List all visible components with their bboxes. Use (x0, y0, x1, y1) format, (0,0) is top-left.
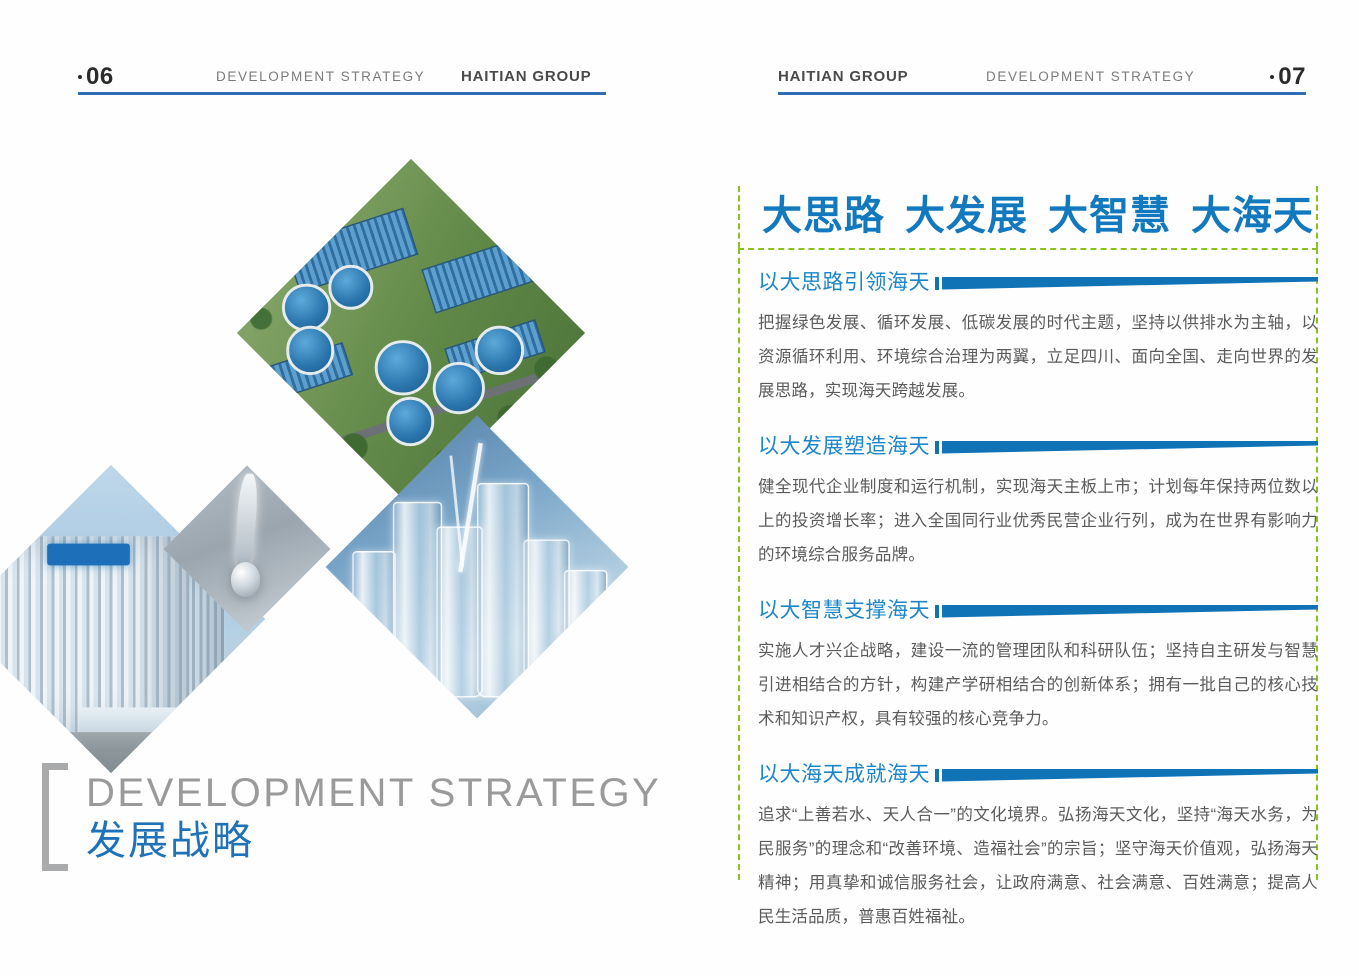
left-header-subtitle: DEVELOPMENT STRATEGY (216, 68, 425, 86)
strategy-block: 以大思路引领海天 把握绿色发展、循环发展、低碳发展的时代主题，坚持以供排水为主轴… (758, 270, 1318, 408)
graduated-cylinder (524, 539, 570, 697)
treatment-plant-art (237, 159, 585, 507)
right-folio-number: 07 (1278, 63, 1306, 90)
strategy-block-body: 追求“上善若水、天人合一”的文化境界。弘扬海天文化，坚持“海天水务，为民服务”的… (758, 798, 1318, 934)
page-title-chinese: 发展战略 (86, 816, 661, 866)
right-header-row: HAITIAN GROUP DEVELOPMENT STRATEGY 07 (778, 64, 1306, 90)
headline-part-1: 大思路 (762, 194, 885, 238)
heading-arrow-bar-icon (942, 605, 1318, 618)
left-header-brand: HAITIAN GROUP (461, 67, 591, 87)
heading-arrow-bar-icon (942, 277, 1318, 290)
right-header-brand: HAITIAN GROUP (778, 67, 908, 87)
bracket-ornament-icon (42, 763, 68, 871)
folio-dot-icon (1270, 75, 1274, 79)
left-header-rule (78, 92, 606, 95)
headline-part-4: 大海天 (1191, 194, 1314, 238)
left-page-folio: 06 (78, 64, 114, 90)
strategy-block-heading: 以大海天成就海天 (758, 762, 930, 788)
page-title-texts: DEVELOPMENT STRATEGY 发展战略 (86, 763, 661, 873)
page-title: DEVELOPMENT STRATEGY 发展战略 (42, 763, 661, 873)
diamond-image-collage (0, 150, 600, 650)
strategy-block-heading: 以大发展塑造海天 (758, 434, 930, 460)
building-podium (79, 708, 199, 736)
strategy-block-body: 把握绿色发展、循环发展、低碳发展的时代主题，坚持以供排水为主轴，以资源循环利用、… (758, 306, 1318, 408)
dashed-frame-spur-right (1316, 186, 1318, 248)
headline: 大思路大发展大智慧大海天 (762, 192, 1314, 240)
graduated-cylinder (393, 502, 442, 697)
right-header-rule (778, 92, 1306, 95)
strategy-block-list: 以大思路引领海天 把握绿色发展、循环发展、低碳发展的时代主题，坚持以供排水为主轴… (758, 270, 1318, 934)
graduated-cylinder (353, 552, 396, 698)
left-page-header: 06 DEVELOPMENT STRATEGY HAITIAN GROUP (78, 64, 606, 98)
graduated-cylinder (564, 570, 607, 697)
strategy-block: 以大海天成就海天 追求“上善若水、天人合一”的文化境界。弘扬海天文化，坚持“海天… (758, 762, 1318, 934)
strategy-block-heading: 以大智慧支撑海天 (758, 598, 930, 624)
strategy-block-body: 实施人才兴企战略，建设一流的管理团队和科研队伍；坚持自主研发与智慧引进相结合的方… (758, 634, 1318, 736)
heading-tick-mark-icon (935, 441, 939, 454)
strategy-block-header: 以大智慧支撑海天 (758, 598, 1318, 624)
headline-part-2: 大发展 (905, 194, 1028, 238)
building-logo-sign (48, 543, 130, 565)
right-page-content: 大思路大发展大智慧大海天 以大思路引领海天 把握绿色发展、循环发展、低碳发展的时… (700, 120, 1350, 920)
heading-tick-mark-icon (935, 769, 939, 782)
right-page-header: HAITIAN GROUP DEVELOPMENT STRATEGY 07 (778, 64, 1306, 98)
strategy-block-header: 以大海天成就海天 (758, 762, 1318, 788)
water-treatment-plant-aerial-photo (237, 159, 585, 507)
right-header-subtitle: DEVELOPMENT STRATEGY (986, 68, 1195, 86)
strategy-block: 以大发展塑造海天 健全现代企业制度和运行机制，实现海天主板上市；计划每年保持两位… (758, 434, 1318, 572)
heading-arrow-bar-icon (942, 441, 1318, 454)
brochure-spread: 06 DEVELOPMENT STRATEGY HAITIAN GROUP HA… (0, 0, 1359, 976)
heading-arrow-bar-icon (942, 769, 1318, 782)
plant-tree-canopy (237, 159, 585, 507)
strategy-block-header: 以大发展塑造海天 (758, 434, 1318, 460)
headline-part-3: 大智慧 (1048, 194, 1171, 238)
strategy-block: 以大智慧支撑海天 实施人才兴企战略，建设一流的管理团队和科研队伍；坚持自主研发与… (758, 598, 1318, 736)
water-stream (233, 474, 259, 573)
dashed-frame-spur-left (738, 186, 740, 248)
heading-tick-mark-icon (935, 277, 939, 290)
building-main (0, 537, 190, 733)
water-bead (232, 563, 261, 597)
left-header-row: 06 DEVELOPMENT STRATEGY HAITIAN GROUP (78, 64, 606, 90)
folio-dot-icon (78, 75, 82, 79)
left-folio-number: 06 (86, 63, 114, 90)
strategy-block-body: 健全现代企业制度和运行机制，实现海天主板上市；计划每年保持两位数以上的投资增长率… (758, 470, 1318, 572)
graduated-cylinder (477, 483, 530, 697)
strategy-block-heading: 以大思路引领海天 (758, 270, 930, 296)
right-page-folio: 07 (1270, 64, 1306, 90)
page-title-english: DEVELOPMENT STRATEGY (86, 770, 661, 816)
strategy-block-header: 以大思路引领海天 (758, 270, 1318, 296)
heading-tick-mark-icon (935, 605, 939, 618)
